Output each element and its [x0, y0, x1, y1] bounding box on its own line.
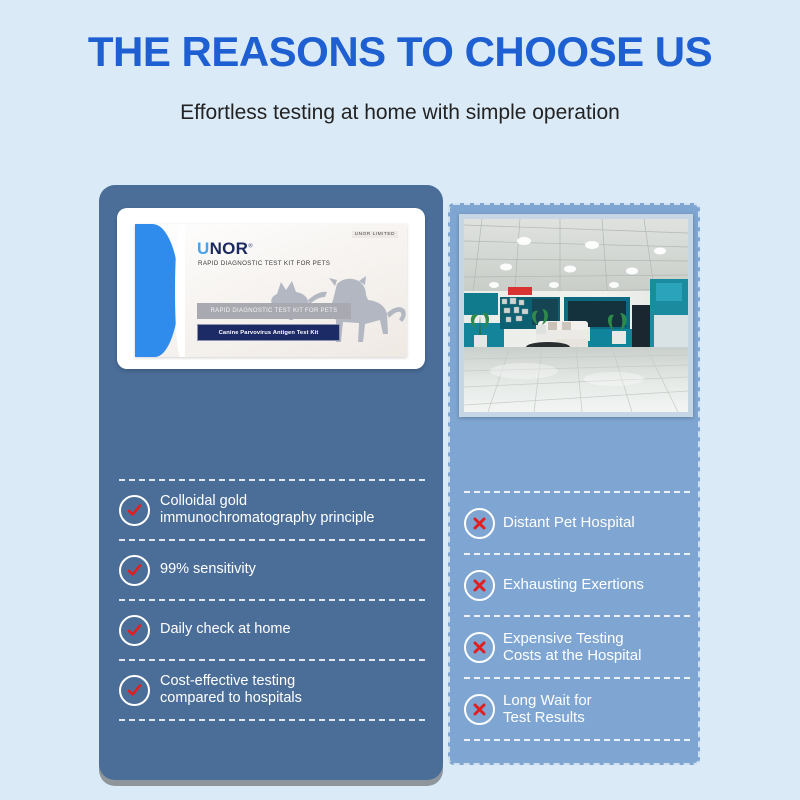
list-item[interactable]: Colloidal goldimmunochromatography princ…	[119, 479, 425, 539]
list-item-label: Expensive TestingCosts at the Hospital	[503, 630, 641, 665]
list-item-label: Cost-effective testingcompared to hospit…	[160, 673, 302, 707]
box-blue-stripe	[135, 224, 179, 357]
check-circle-icon	[119, 495, 150, 526]
brand-logo-rest: NOR	[210, 239, 249, 258]
list-item[interactable]: Long Wait forTest Results	[464, 677, 690, 741]
pet-hospital-lobby-photo	[464, 219, 688, 412]
list-item[interactable]: Distant Pet Hospital	[464, 491, 690, 553]
list-item-label: 99% sensitivity	[160, 561, 256, 578]
hospital-photo-frame	[459, 214, 693, 417]
box-band-navy: Canine Parvovirus Antigen Test Kit	[197, 324, 340, 341]
benefits-panel: UNOR LIMITED UNOR® RAPID DIAGNOSTIC TEST…	[99, 185, 443, 780]
list-item[interactable]: Cost-effective testingcompared to hospit…	[119, 659, 425, 721]
brand-logo: UNOR®	[197, 240, 253, 257]
promo-page: THE REASONS TO CHOOSE US Effortless test…	[0, 0, 800, 800]
drawbacks-panel: Distant Pet Hospital Exhausting Exertion…	[448, 203, 700, 765]
check-circle-icon	[119, 615, 150, 646]
registered-mark: ®	[248, 243, 253, 249]
drawbacks-list: Distant Pet Hospital Exhausting Exertion…	[464, 491, 690, 741]
page-title: THE REASONS TO CHOOSE US	[0, 28, 800, 76]
check-circle-icon	[119, 555, 150, 586]
hospital-lobby-illustration-icon	[464, 219, 688, 412]
list-item-label: Daily check at home	[160, 621, 291, 638]
list-item[interactable]: Daily check at home	[119, 599, 425, 659]
benefits-list: Colloidal goldimmunochromatography princ…	[119, 479, 425, 721]
x-circle-icon	[464, 632, 495, 663]
page-subtitle: Effortless testing at home with simple o…	[0, 101, 800, 125]
list-item[interactable]: Exhausting Exertions	[464, 553, 690, 615]
list-item-label: Distant Pet Hospital	[503, 514, 635, 531]
x-circle-icon	[464, 508, 495, 539]
list-item-label: Long Wait forTest Results	[503, 692, 592, 727]
box-band-gray: RAPID DIAGNOSTIC TEST KIT FOR PETS	[197, 303, 351, 319]
x-circle-icon	[464, 570, 495, 601]
check-circle-icon	[119, 675, 150, 706]
brand-logo-u: U	[197, 239, 210, 258]
list-item-label: Colloidal goldimmunochromatography princ…	[160, 493, 374, 527]
x-circle-icon	[464, 694, 495, 725]
list-item[interactable]: Expensive TestingCosts at the Hospital	[464, 615, 690, 677]
list-item-label: Exhausting Exertions	[503, 576, 644, 593]
product-image-card: UNOR LIMITED UNOR® RAPID DIAGNOSTIC TEST…	[117, 208, 425, 369]
company-label: UNOR LIMITED	[352, 231, 398, 238]
product-box: UNOR LIMITED UNOR® RAPID DIAGNOSTIC TEST…	[135, 224, 407, 357]
list-item[interactable]: 99% sensitivity	[119, 539, 425, 599]
